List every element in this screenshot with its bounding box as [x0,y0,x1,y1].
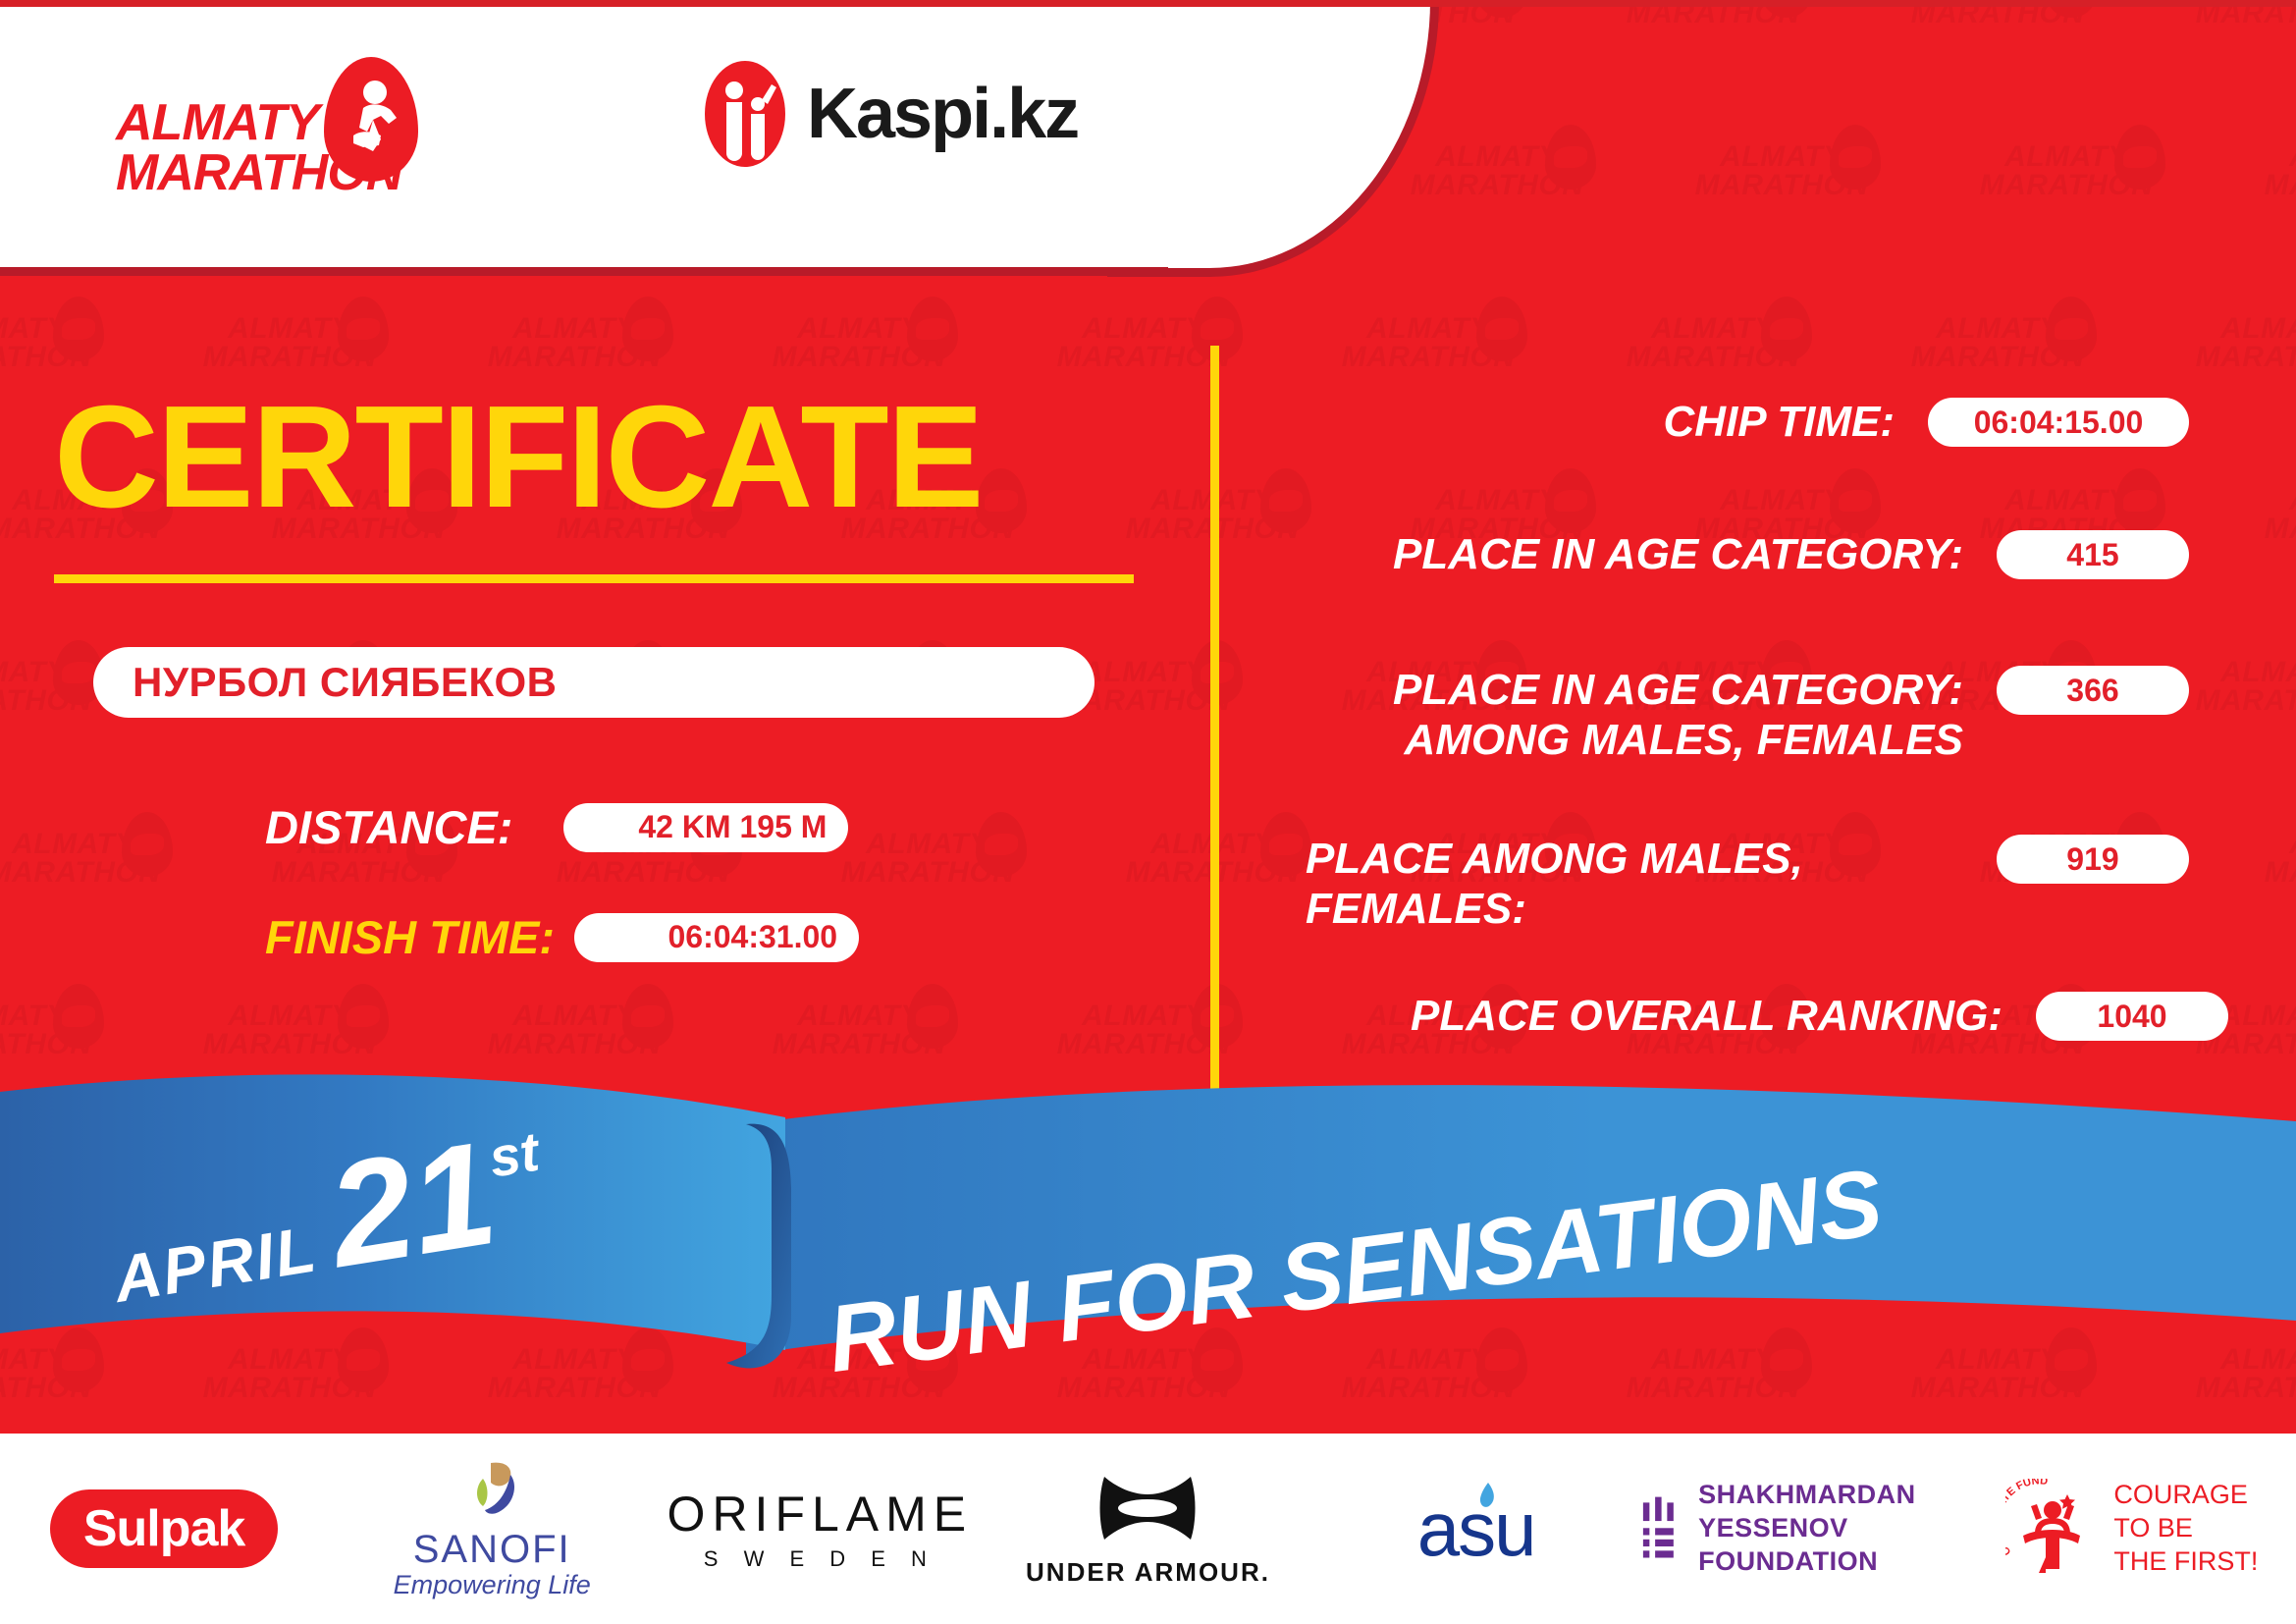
sponsor-asu: asu [1312,1465,1640,1593]
yessenov-wordmark: SHAKHMARDAN YESSENOV FOUNDATION [1698,1479,1968,1578]
courage-fund-logo: CORPORATE FUND COURAGE TO BE THE FIRST! [2005,1479,2258,1579]
watermark-tile: ALMATYMARATHON [1021,314,1266,372]
watermark-tile: ALMATYMARATHON [736,1001,982,1059]
under-armour-mark-icon [1089,1471,1206,1547]
watermark-tile: ALMATYMARATHON [452,1001,697,1059]
sulpak-logo: Sulpak [50,1489,279,1568]
kaspi-logo: Kaspi.kz [705,61,1078,167]
watermark-tile: ALMATYMARATHON [1659,142,1904,200]
svg-text:CORPORATE FUND: CORPORATE FUND [2005,1479,2049,1557]
sponsor-sanofi: SANOFI Empowering Life [328,1465,656,1593]
yessenov-logo: SHAKHMARDAN YESSENOV FOUNDATION [1640,1479,1968,1578]
watermark-tile: ALMATYMARATHON [2160,314,2296,372]
field-place-among-gender: PLACE AMONG MALES, FEMALES: 919 [1306,835,2189,934]
runner-icon [324,57,418,182]
place-overall-label: PLACE OVERALL RANKING: [1306,992,2002,1042]
sanofi-mark-icon [454,1459,530,1520]
watermark-tile: ALMATYMARATHON [167,314,412,372]
watermark-tile: ALMATYMARATHON [736,314,982,372]
almaty-marathon-logo: ALMATY MARATHON [116,57,440,204]
watermark-tile: ALMATYMARATHON [0,314,128,372]
under-armour-wordmark: UNDER ARMOUR. [1026,1557,1270,1588]
certificate-page: ALMATYMARATHONALMATYMARATHONALMATYMARATH… [0,0,2296,1624]
chip-time-value: 06:04:15.00 [1928,398,2189,447]
watermark-tile: ALMATYMARATHON [1875,314,2120,372]
field-finish-time: FINISH TIME: 06:04:31.00 [265,910,859,964]
courage-fund-mark-icon: CORPORATE FUND [2005,1479,2100,1579]
watermark-tile: ALMATYMARATHON [0,1001,128,1059]
sponsor-courage-fund: CORPORATE FUND COURAGE TO BE THE FIRST! [1968,1465,2296,1593]
watermark-tile: ALMATYMARATHON [452,314,697,372]
sanofi-logo: SANOFI Empowering Life [394,1459,591,1598]
watermark-tile: ALMATYMARATHON [2228,142,2296,200]
watermark-tile: ALMATYMARATHON [1944,142,2189,200]
ribbon-day: 21 [322,1133,503,1275]
top-rule [0,0,2296,7]
sponsor-sulpak: Sulpak [0,1465,328,1593]
participant-name: НУРБОЛ СИЯБЕКОВ [93,659,557,706]
title-underline [54,574,1134,583]
blue-ribbon-banner: APRIL 21 st RUN FOR SENSATIONS [0,1070,2296,1394]
distance-value: 42 KM 195 M [563,803,848,852]
place-age-category-value: 415 [1997,530,2189,579]
column-divider [1210,346,1219,1098]
field-place-overall: PLACE OVERALL RANKING: 1040 [1306,992,2228,1042]
oriflame-logo: ORIFLAME S W E D E N [667,1486,974,1572]
certificate-title: CERTIFICATE [54,385,982,530]
watermark-tile: ALMATYMARATHON [2228,486,2296,544]
watermark-tile: ALMATYMARATHON [167,1001,412,1059]
field-distance: DISTANCE: 42 KM 195 M [265,800,848,854]
ribbon-day-suffix: st [485,1119,543,1190]
under-armour-logo: UNDER ARMOUR. [1026,1471,1270,1588]
oriflame-wordmark: ORIFLAME [667,1486,974,1543]
chip-time-label: CHIP TIME: [1306,398,1895,448]
yessenov-mark-icon [1640,1485,1677,1573]
asu-droplet-icon [1474,1481,1500,1514]
sponsor-yessenov-foundation: SHAKHMARDAN YESSENOV FOUNDATION [1640,1465,1968,1593]
watermark-tile: ALMATYMARATHON [1306,314,1551,372]
oriflame-tagline: S W E D E N [667,1546,974,1572]
kaspi-wordmark: Kaspi.kz [807,74,1078,154]
field-place-age-category: PLACE IN AGE CATEGORY: 415 [1306,530,2189,580]
watermark-tile: ALMATYMARATHON [2228,830,2296,888]
participant-name-pill: НУРБОЛ СИЯБЕКОВ [93,647,1095,718]
place-age-category-gender-label: PLACE IN AGE CATEGORY: AMONG MALES, FEMA… [1306,666,1963,765]
header-accent-line [0,267,1168,276]
kaspi-mark-icon [705,61,785,167]
place-among-gender-label: PLACE AMONG MALES, FEMALES: [1306,835,1963,934]
place-among-gender-value: 919 [1997,835,2189,884]
asu-logo: asu [1417,1485,1535,1574]
sponsor-oriflame: ORIFLAME S W E D E N [656,1465,984,1593]
field-chip-time: CHIP TIME: 06:04:15.00 [1306,398,2189,448]
place-overall-value: 1040 [2036,992,2228,1041]
finish-time-label: FINISH TIME: [265,910,555,964]
field-place-age-category-gender: PLACE IN AGE CATEGORY: AMONG MALES, FEMA… [1306,666,2189,765]
finish-time-value: 06:04:31.00 [574,913,859,962]
sponsor-under-armour: UNDER ARMOUR. [984,1465,1311,1593]
watermark-tile: ALMATYMARATHON [1590,314,1836,372]
watermark-tile: ALMATYMARATHON [1021,1001,1266,1059]
sponsors-bar: Sulpak SANOFI Empowering Life ORIFLAME S… [0,1434,2296,1624]
watermark-tile: ALMATYMARATHON [0,830,196,888]
watermark-tile: ALMATYMARATHON [1374,142,1620,200]
sanofi-wordmark: SANOFI [394,1530,591,1569]
distance-label: DISTANCE: [265,800,512,854]
place-age-category-gender-value: 366 [1997,666,2189,715]
place-age-category-label: PLACE IN AGE CATEGORY: [1306,530,1963,580]
courage-fund-wordmark: COURAGE TO BE THE FIRST! [2113,1479,2258,1578]
sanofi-tagline: Empowering Life [394,1572,591,1598]
